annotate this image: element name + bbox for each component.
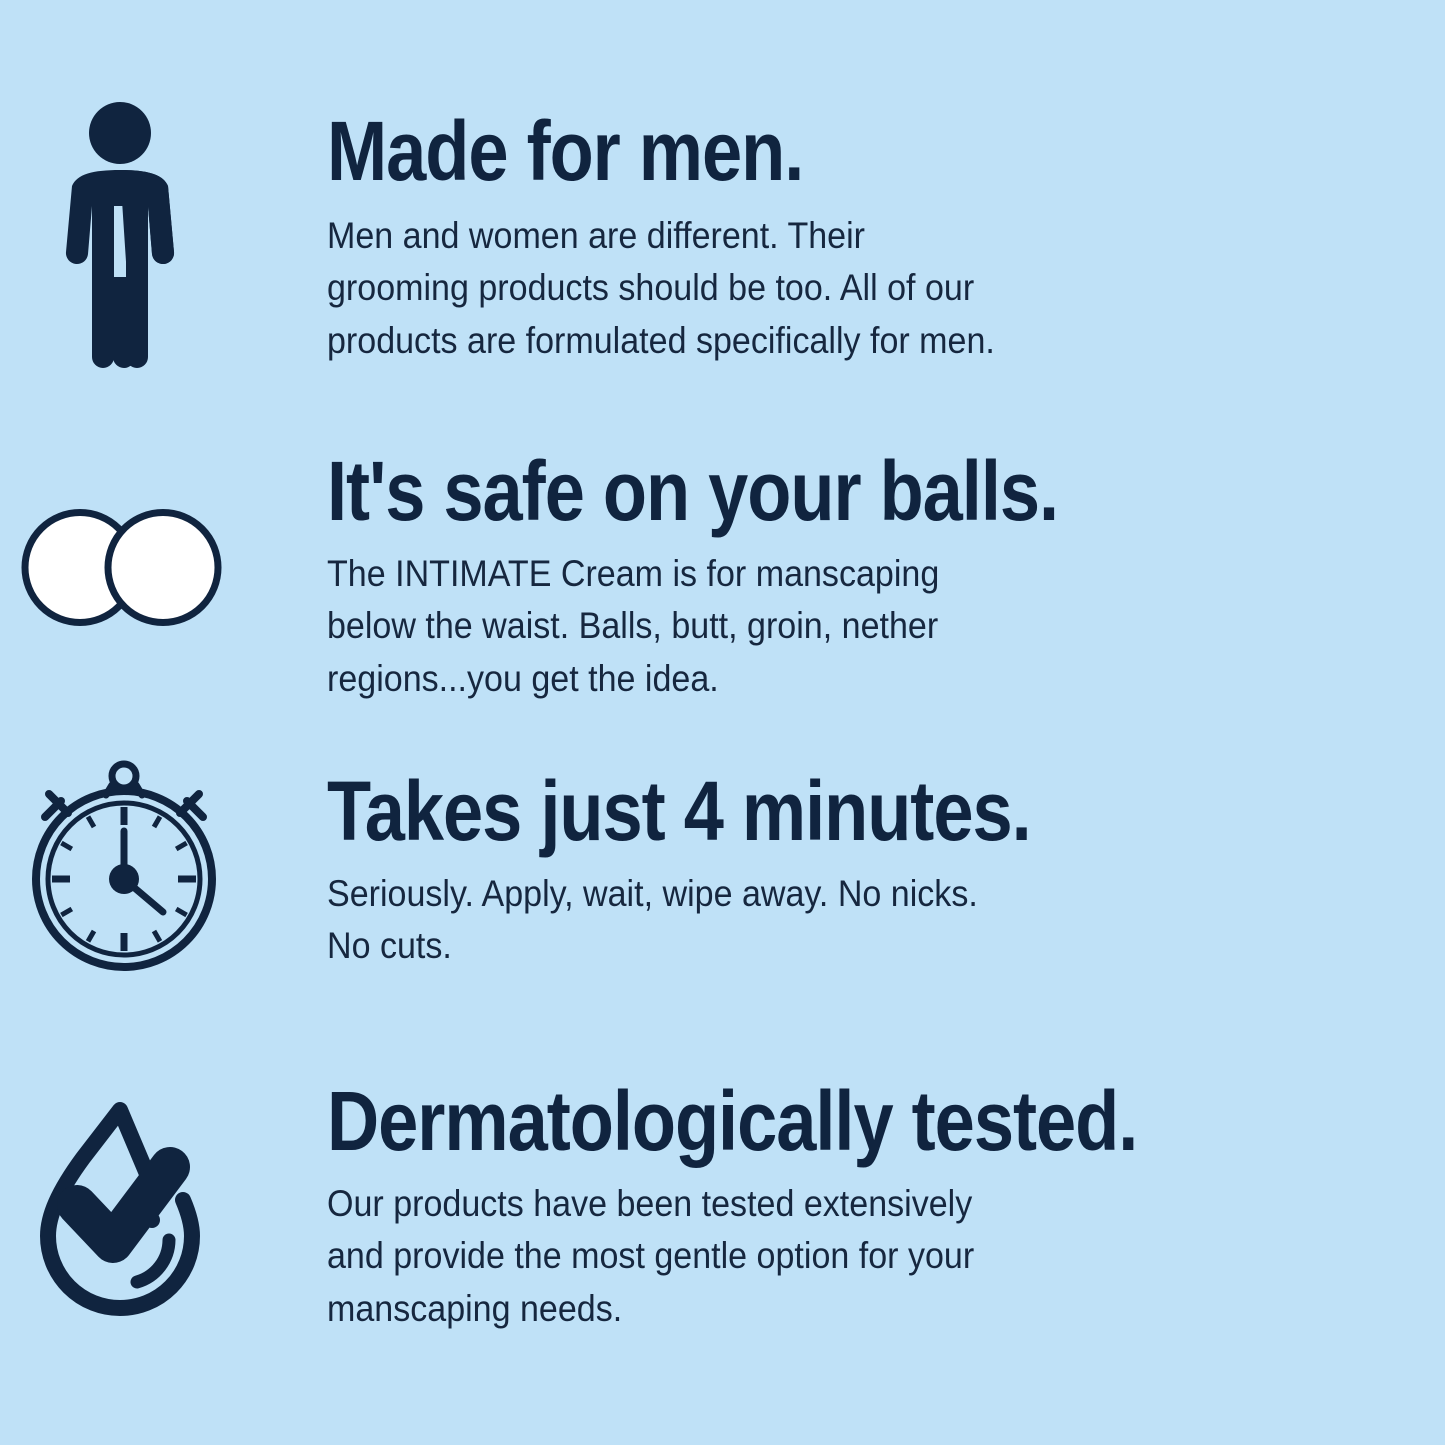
feature-text-safe-on-balls: It's safe on your balls. The INTIMATE Cr… xyxy=(327,452,1177,705)
body-made-for-men: Men and women are different. Their groom… xyxy=(327,210,995,368)
body-line: Seriously. Apply, wait, wipe away. No ni… xyxy=(327,868,1080,921)
headline-made-for-men: Made for men. xyxy=(327,112,951,192)
stopwatch-icon xyxy=(20,757,228,972)
water-droplet-check-icon xyxy=(30,1088,210,1318)
body-line: below the waist. Balls, butt, groin, net… xyxy=(327,600,1109,653)
body-safe-on-balls: The INTIMATE Cream is for manscaping bel… xyxy=(327,548,1109,706)
body-line: and provide the most gentle option for y… xyxy=(327,1230,1194,1283)
headline-four-minutes: Takes just 4 minutes. xyxy=(327,772,1031,852)
body-derm-tested: Our products have been tested extensivel… xyxy=(327,1178,1194,1336)
standing-person-icon xyxy=(55,103,185,373)
body-line: products are formulated specifically for… xyxy=(327,315,995,368)
body-line: regions...you get the idea. xyxy=(327,653,1109,706)
body-line: manscaping needs. xyxy=(327,1283,1194,1336)
body-line: No cuts. xyxy=(327,920,1080,973)
product-benefits-infographic: Made for men. Men and women are differen… xyxy=(0,0,1445,1445)
feature-text-derm-tested: Dermatologically tested. Our products ha… xyxy=(327,1082,1269,1335)
body-line: Men and women are different. Their xyxy=(327,210,995,263)
body-four-minutes: Seriously. Apply, wait, wipe away. No ni… xyxy=(327,868,1080,973)
feature-text-four-minutes: Takes just 4 minutes. Seriously. Apply, … xyxy=(327,772,1145,973)
headline-derm-tested: Dermatologically tested. xyxy=(327,1082,1137,1162)
two-overlapping-circles-icon xyxy=(14,505,229,630)
body-line: grooming products should be too. All of … xyxy=(327,262,995,315)
headline-safe-on-balls: It's safe on your balls. xyxy=(327,452,1058,532)
body-line: Our products have been tested extensivel… xyxy=(327,1178,1194,1231)
feature-text-made-for-men: Made for men. Men and women are differen… xyxy=(327,112,1053,367)
body-line: The INTIMATE Cream is for manscaping xyxy=(327,548,1109,601)
